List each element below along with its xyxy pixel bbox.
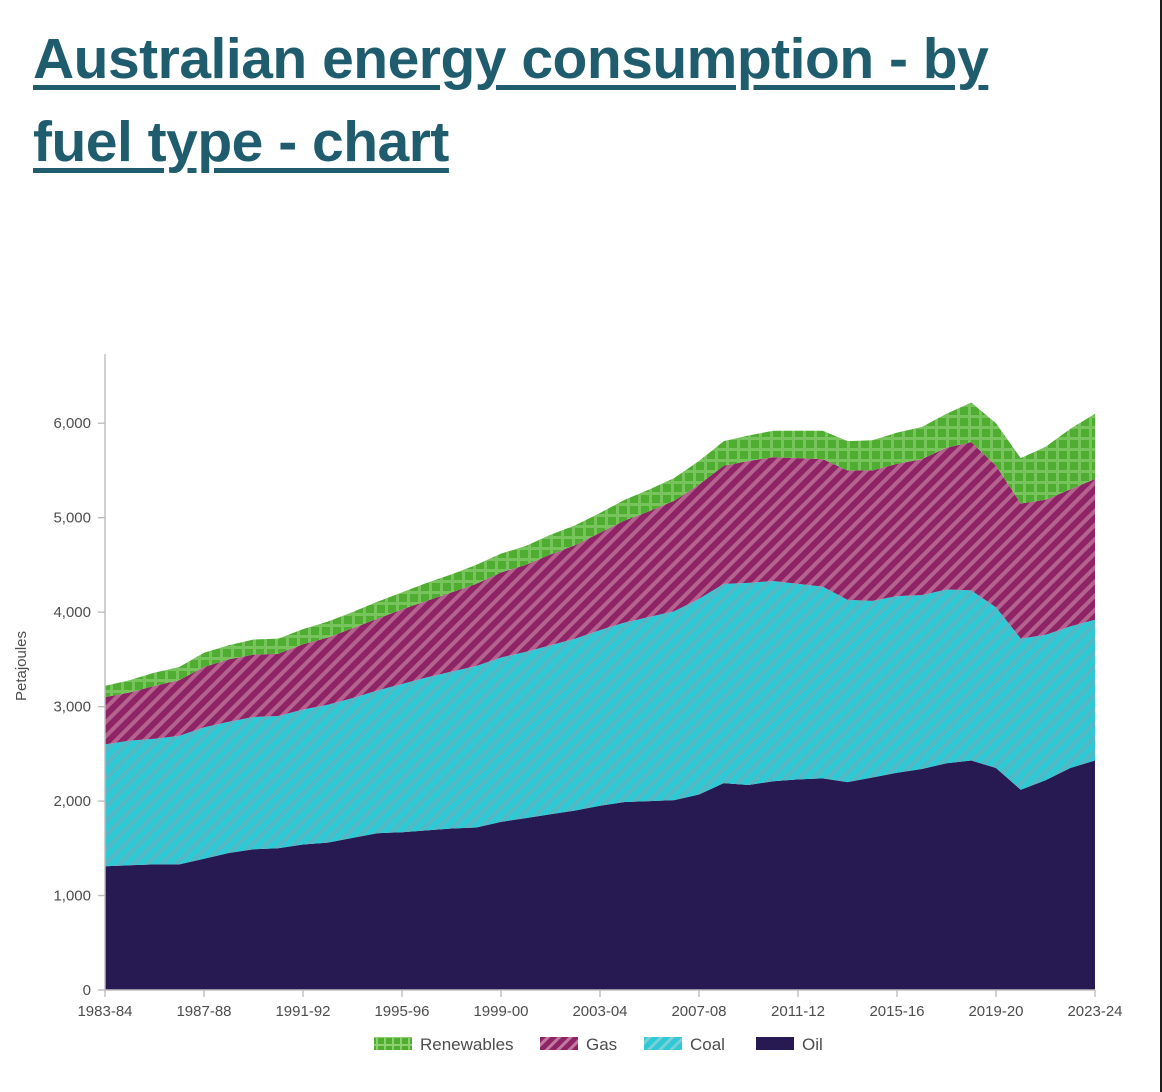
- legend-swatch-renewables[interactable]: [374, 1037, 412, 1050]
- x-tick-label: 1983-84: [77, 1003, 132, 1020]
- x-axis-ticks: 1983-841987-881991-921995-961999-002003-…: [77, 990, 1122, 1020]
- page-title-link[interactable]: Australian energy consumption - by fuel …: [33, 18, 1033, 184]
- x-tick-label: 2019-20: [968, 1003, 1023, 1020]
- x-tick-label: 1995-96: [374, 1003, 429, 1020]
- legend-label-renewables[interactable]: Renewables: [420, 1035, 514, 1054]
- stacked-area-chart-svg: 01,0002,0003,0004,0005,0006,000 1983-841…: [0, 316, 1152, 1086]
- y-tick-label: 4,000: [53, 604, 91, 621]
- y-tick-label: 3,000: [53, 699, 91, 716]
- x-tick-label: 2015-16: [869, 1003, 924, 1020]
- y-tick-label: 0: [83, 982, 91, 999]
- legend-swatch-oil[interactable]: [756, 1037, 794, 1050]
- y-tick-label: 2,000: [53, 793, 91, 810]
- y-tick-label: 6,000: [53, 415, 91, 432]
- energy-consumption-chart: 01,0002,0003,0004,0005,0006,000 1983-841…: [0, 316, 1152, 1086]
- x-tick-label: 2003-04: [572, 1003, 627, 1020]
- legend-label-gas[interactable]: Gas: [586, 1035, 617, 1054]
- x-tick-label: 1987-88: [176, 1003, 231, 1020]
- x-tick-label: 1991-92: [275, 1003, 330, 1020]
- y-tick-label: 5,000: [53, 510, 91, 527]
- chart-area-series: [105, 402, 1095, 990]
- page-body: Australian energy consumption - by fuel …: [0, 0, 1152, 1092]
- y-tick-label: 1,000: [53, 888, 91, 905]
- chart-legend: RenewablesGasCoalOil: [374, 1035, 823, 1054]
- legend-label-coal[interactable]: Coal: [690, 1035, 725, 1054]
- legend-swatch-coal[interactable]: [644, 1037, 682, 1050]
- y-axis-label: Petajoules: [13, 631, 30, 701]
- x-tick-label: 2007-08: [671, 1003, 726, 1020]
- x-tick-label: 2023-24: [1067, 1003, 1122, 1020]
- x-tick-label: 1999-00: [473, 1003, 528, 1020]
- legend-label-oil[interactable]: Oil: [802, 1035, 823, 1054]
- x-tick-label: 2011-12: [771, 1003, 825, 1020]
- legend-swatch-gas[interactable]: [540, 1037, 578, 1050]
- y-axis-ticks: 01,0002,0003,0004,0005,0006,000: [53, 415, 105, 999]
